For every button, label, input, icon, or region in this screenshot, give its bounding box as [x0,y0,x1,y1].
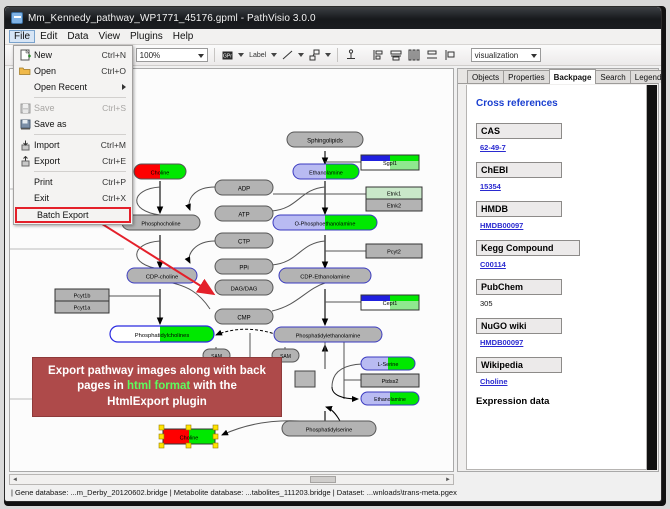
svg-text:Cept1: Cept1 [383,301,398,307]
gene-product-icon[interactable]: GPr [221,48,235,62]
node-ethanolamine-bottom: Ethanolamine [361,392,419,405]
xref-value-pubchem: 305 [480,299,637,308]
file-menu-import-label: Import [34,140,101,150]
callout-highlight: html format [127,380,190,392]
file-menu-batch-export-label: Batch Export [19,210,129,220]
file-menu-exit[interactable]: Exit Ctrl+X [14,190,132,206]
file-menu-separator-1 [34,97,126,98]
file-menu-print-label: Print [34,177,102,187]
node-choline-top: Choline [134,164,186,179]
node-pcyt1a: Pcyt1a [55,301,109,313]
xref-header-cas: CAS [476,123,562,139]
toolbar-separator-2 [337,48,338,62]
line-tool-icon[interactable] [281,48,295,62]
backpage-content: Cross references CAS 62-49-7 ChEBI 15354… [466,85,647,470]
file-menu-import[interactable]: Import Ctrl+M [14,137,132,153]
zoom-value: 100% [140,51,160,60]
node-dagdag: DAG/DAG [215,280,273,295]
align-center-icon[interactable] [389,48,403,62]
pathvisio-window: Mm_Kennedy_pathway_WP1771_45176.gpml - P… [4,6,662,502]
menu-plugins[interactable]: Plugins [125,30,168,43]
svg-text:Pcyt2: Pcyt2 [387,250,401,256]
node-l-serine: L-Serine [361,357,415,370]
tab-objects[interactable]: Objects [467,70,504,83]
svg-text:GPr: GPr [223,53,232,59]
side-panel: Objects Properties Backpage Search Legen… [457,68,659,472]
svg-text:Phosphocholine: Phosphocholine [141,222,180,228]
node-adp: ADP [215,180,273,195]
node-pcyt2: Pcyt2 [366,244,422,258]
svg-text:Ethanolamine: Ethanolamine [309,171,343,177]
node-atp: ATP [215,206,273,221]
file-menu-open[interactable]: Open Ctrl+O [14,63,132,79]
label-tool-text: Label [249,52,266,59]
node-ptdss2: Ptdss2 [361,374,419,387]
menu-edit[interactable]: Edit [35,30,62,43]
visualization-combo[interactable]: visualization [471,48,541,62]
node-sphingolipids: Sphingolipids [287,132,363,147]
status-text: | Gene database: ...m_Derby_20120602.bri… [9,486,454,498]
file-menu-print[interactable]: Print Ctrl+P [14,174,132,190]
scroll-right-icon[interactable]: ► [443,475,453,484]
open-folder-icon [16,64,34,78]
xref-link-kegg[interactable]: C00114 [480,260,506,269]
tab-backpage[interactable]: Backpage [549,69,597,84]
node-phosphatidylethanolamine: Phosphatidylethanolamine [274,327,382,342]
xref-header-chebi: ChEBI [476,162,562,178]
svg-text:ADP: ADP [238,187,250,193]
svg-text:CDP-choline: CDP-choline [146,275,179,281]
node-cept1: Cept1 [361,295,419,310]
callout-line3: HtmlExport plugin [107,396,207,408]
menu-data[interactable]: Data [62,30,93,43]
xref-value-chebi[interactable]: 15354 [480,182,637,191]
xref-link-nugo[interactable]: HMDB00097 [480,338,523,347]
node-ctp: CTP [215,233,273,248]
file-menu-save-as-label: Save as [34,119,126,129]
svg-text:CTP: CTP [238,240,250,246]
cross-references-title: Cross references [476,98,637,109]
callout-line2-before: pages in [77,380,127,392]
file-menu-open-label: Open [34,66,101,76]
label-tool-icon[interactable]: Label [248,48,268,62]
distribute-icon[interactable] [407,48,421,62]
line-tool-caret-icon[interactable] [298,53,304,57]
stack-icon[interactable] [425,48,439,62]
svg-text:Sphingolipids: Sphingolipids [307,139,343,145]
window-title: Mm_Kennedy_pathway_WP1771_45176.gpml - P… [28,13,316,24]
svg-text:Ethanolamine: Ethanolamine [374,397,406,403]
scroll-left-icon[interactable]: ◄ [10,475,20,484]
chevron-down-icon [198,54,204,58]
file-menu-exit-accel: Ctrl+X [102,193,132,203]
svg-text:Pcyt1b: Pcyt1b [74,294,91,300]
tab-legend[interactable]: Legend [630,70,662,83]
file-menu-exit-label: Exit [34,193,102,203]
new-file-icon [16,48,34,62]
chevron-down-icon-2 [531,54,537,58]
open-recent-spacer-icon [16,80,34,94]
file-menu-save-as[interactable]: Save as [14,116,132,132]
node-pcyt1b: Pcyt1b [55,289,109,301]
file-menu-open-recent[interactable]: Open Recent [14,79,132,95]
annotation-callout: Export pathway images along with back pa… [32,357,282,417]
panel-tabstrip: Objects Properties Backpage Search Legen… [458,69,658,84]
file-menu-dropdown[interactable]: New Ctrl+N Open Ctrl+O Open Recent [13,45,133,225]
file-menu-batch-export[interactable]: Batch Export [15,207,131,223]
file-menu-save: Save Ctrl+S [14,100,132,116]
anchor-tool-icon[interactable] [344,48,358,62]
print-spacer-icon [16,175,34,189]
svg-text:CDP-Ethanolamine: CDP-Ethanolamine [300,275,350,281]
tab-search[interactable]: Search [595,70,630,83]
node-etnk1: Etnk1 [366,187,422,199]
export-icon [16,154,34,168]
label-tool-caret-icon[interactable] [271,53,277,57]
svg-text:Etnk2: Etnk2 [387,204,401,210]
menu-file[interactable]: File [9,30,35,43]
xref-value-kegg[interactable]: C00114 [480,260,637,269]
svg-text:Choline: Choline [151,171,170,177]
node-phosphatidylserine: Phosphatidylserine [282,421,376,436]
menubar: File Edit Data View Plugins Help [5,29,661,45]
panel-scrollbar[interactable] [647,85,657,470]
xref-link-chebi[interactable]: 15354 [480,182,501,191]
xref-header-kegg: Kegg Compound [476,240,580,256]
pathvisio-icon [11,12,23,24]
node-cdp-ethanolamine: CDP-Ethanolamine [279,268,371,283]
menu-help[interactable]: Help [168,30,199,43]
xref-value-cas[interactable]: 62-49-7 [480,143,637,152]
visualization-value: visualization [475,51,519,60]
xref-value-wikipedia[interactable]: Choline [480,377,637,386]
svg-text:Phosphatidylethanolamine: Phosphatidylethanolamine [296,334,361,340]
file-menu-open-recent-label: Open Recent [34,82,122,92]
node-cmp: CMP [215,309,273,324]
statusbar: ◄ ► | Gene database: ...m_Derby_20120602… [9,474,454,498]
align-left-icon[interactable] [371,48,385,62]
xref-header-hmdb: HMDB [476,201,562,217]
svg-text:Choline: Choline [180,436,199,442]
svg-text:Pcyt1a: Pcyt1a [74,306,92,312]
node-cdp-choline: CDP-choline [127,268,197,283]
file-menu-separator-3 [34,171,126,172]
scrollbar-thumb[interactable] [310,476,336,483]
svg-text:O-Phosphoethanolamine: O-Phosphoethanolamine [295,222,356,228]
svg-text:DAG/DAG: DAG/DAG [231,287,258,293]
import-icon [16,138,34,152]
node-sgpl1: Sgpl1 [361,155,419,170]
xref-header-pubchem: PubChem [476,279,562,295]
node-ppi: PPi [215,259,273,274]
gene-product-caret-icon[interactable] [238,53,244,57]
file-menu-export-label: Export [34,156,102,166]
screen-background: Mm_Kennedy_pathway_WP1771_45176.gpml - P… [0,0,670,509]
callout-line1: Export pathway images along with back [48,365,266,377]
svg-text:Phosphatidylserine: Phosphatidylserine [306,428,352,434]
node-ethanolamine-top: Ethanolamine [293,164,359,179]
svg-text:Sgpl1: Sgpl1 [383,161,397,167]
file-menu-new-accel: Ctrl+N [102,50,132,60]
svg-text:Phosphatidylcholines: Phosphatidylcholines [135,333,190,339]
xref-header-nugo: NuGO wiki [476,318,562,334]
xref-header-wikipedia: Wikipedia [476,357,562,373]
interaction-tool-icon[interactable] [308,48,322,62]
svg-text:Ptdss2: Ptdss2 [382,379,399,385]
file-menu-separator-2 [34,134,126,135]
file-menu-new-label: New [34,50,102,60]
expression-data-title: Expression data [476,396,637,407]
file-menu-export-accel: Ctrl+E [102,156,132,166]
horizontal-scrollbar[interactable]: ◄ ► [9,474,454,485]
tab-properties[interactable]: Properties [503,70,549,83]
submenu-arrow-icon [122,84,126,90]
file-menu-import-accel: Ctrl+M [101,140,132,150]
file-menu-open-accel: Ctrl+O [101,66,132,76]
save-disk-icon [16,101,34,115]
xref-link-hmdb[interactable]: HMDB00097 [480,221,523,230]
menu-view[interactable]: View [93,30,125,43]
toolbar-separator [214,48,215,62]
svg-text:ATP: ATP [238,213,249,219]
svg-text:Etnk1: Etnk1 [387,192,401,198]
titlebar: Mm_Kennedy_pathway_WP1771_45176.gpml - P… [5,7,661,29]
file-menu-save-label: Save [34,103,102,113]
interaction-tool-caret-icon[interactable] [325,53,331,57]
xref-value-nugo[interactable]: HMDB00097 [480,338,637,347]
file-menu-print-accel: Ctrl+P [102,177,132,187]
node-etnk2: Etnk2 [366,199,422,211]
zoom-combo[interactable]: 100% [136,48,208,62]
exit-spacer-icon [16,191,34,205]
svg-text:PPi: PPi [239,266,248,272]
svg-text:CMP: CMP [237,316,250,322]
file-menu-new[interactable]: New Ctrl+N [14,47,132,63]
group-icon[interactable] [443,48,457,62]
callout-line2-after: with the [190,380,237,392]
file-menu-export[interactable]: Export Ctrl+E [14,153,132,169]
svg-text:L-Serine: L-Serine [378,362,399,368]
node-phosphatidylcholines: Phosphatidylcholines [110,326,214,342]
node-phosphocholine: Phosphocholine [122,215,200,230]
xref-value-hmdb[interactable]: HMDB00097 [480,221,637,230]
file-menu-save-accel: Ctrl+S [102,103,132,113]
node-choline-selected: Choline [159,425,218,448]
save-as-icon [16,117,34,131]
xref-link-cas[interactable]: 62-49-7 [480,143,506,152]
xref-link-wikipedia[interactable]: Choline [480,377,508,386]
node-o-phosphoethanolamine: O-Phosphoethanolamine [273,215,377,230]
